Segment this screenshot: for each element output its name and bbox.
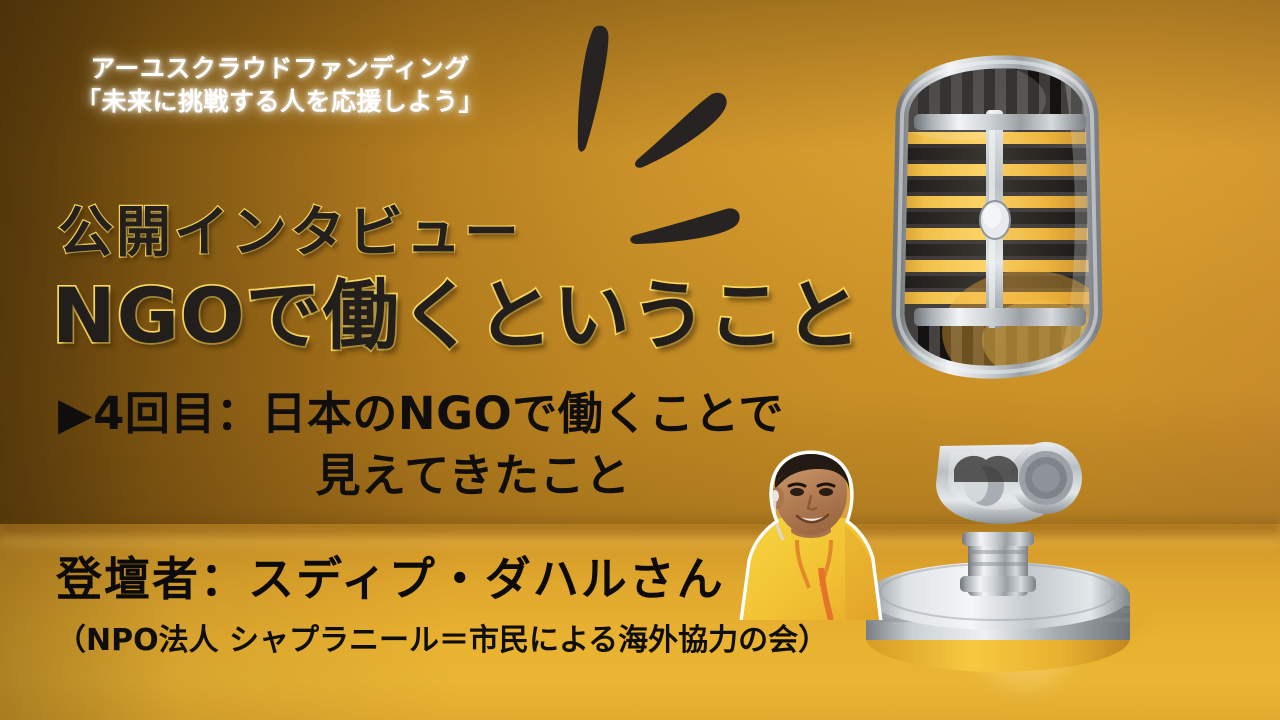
- subtitle-line2: 見えてきたこと: [48, 445, 928, 507]
- poster-canvas: アーユスクラウドファンディング 「未来に挑戦する人を応援しよう」 公開インタビュ…: [0, 0, 1280, 720]
- speaker-name: 登壇者：スディプ・ダハルさん: [56, 552, 856, 606]
- play-triangle-icon: ▶: [58, 387, 93, 440]
- kicker-text: アーユスクラウドファンディング 「未来に挑戦する人を応援しよう」: [0, 52, 560, 118]
- subtitle-line1: ▶4回目：日本のNGOで働くことで: [48, 383, 928, 445]
- episode-subtitle: ▶4回目：日本のNGOで働くことで 見えてきたこと: [48, 383, 928, 507]
- page-title-line2: NGOで働くということ: [52, 275, 862, 357]
- text-layer: アーユスクラウドファンディング 「未来に挑戦する人を応援しよう」 公開インタビュ…: [0, 0, 1280, 720]
- speaker-organization: （NPO法人 シャプラニール＝市民による海外協力の会）: [56, 622, 956, 660]
- kicker-line2: 「未来に挑戦する人を応援しよう」: [0, 85, 560, 118]
- kicker-line1: アーユスクラウドファンディング: [90, 54, 469, 83]
- subtitle-line1-text: 4回目：日本のNGOで働くことで: [93, 387, 784, 440]
- page-title-line1: 公開インタビュー: [58, 203, 522, 261]
